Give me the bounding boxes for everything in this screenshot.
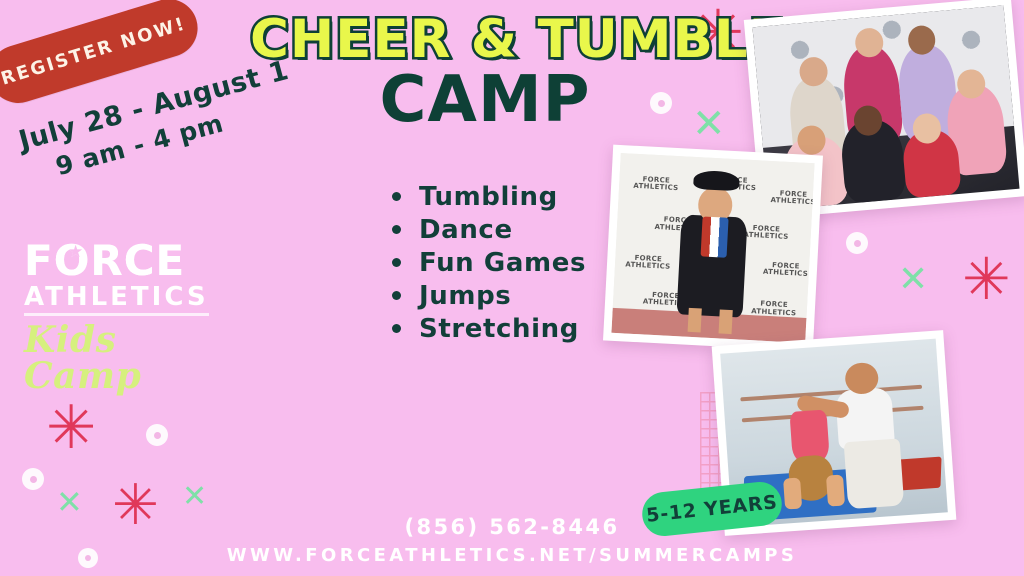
backdrop-logo-text: FORCE ATHLETICS [762,261,809,278]
bullet-icon [392,291,401,300]
website-url[interactable]: WWW.FORCEATHLETICS.NET/SUMMERCAMPS [0,545,1024,566]
headline-block: CHEER & TUMBLE CAMP [250,14,720,132]
activity-label: Fun Games [419,248,586,278]
title-line-2: CAMP [250,68,720,132]
activity-label: Stretching [419,314,579,344]
force-athletics-logo: FORCE ★ ATHLETICS Kids Camp [24,240,239,394]
phone-number[interactable]: (856) 562-8446 [0,515,1024,539]
child-arm [826,474,845,506]
title-line-1: CHEER & TUMBLE [250,14,720,66]
backdrop-logo-text: FORCE ATHLETICS [770,190,815,207]
logo-tagline: Kids Camp [24,322,239,394]
asterisk-decoration: ✳ [46,398,96,458]
bullet-icon [392,324,401,333]
backdrop-logo-text: FORCE ATHLETICS [623,254,674,271]
solo-cheerleader-with-medal-photo: FORCE ATHLETICS FORCE ATHLETICS FORCE AT… [603,145,823,352]
bullet-icon [392,258,401,267]
bullet-icon [392,192,401,201]
star-icon: ★ [68,244,84,261]
activity-label: Tumbling [419,182,558,212]
backdrop-logo-text: FORCE ATHLETICS [741,224,792,241]
logo-word-force: FORCE ★ [24,240,185,282]
list-item: Dance [392,213,586,246]
list-item: Stretching [392,312,586,345]
activity-label: Jumps [419,281,511,311]
circle-decoration [146,424,168,446]
coach-legs [843,439,904,509]
leg-figure [687,308,702,332]
list-item: Tumbling [392,180,586,213]
bullet-icon [392,225,401,234]
activity-label: Dance [419,215,513,245]
flyer-canvas: ✳ ✳ ✳ ✳ ✕ ✕ ✕ ✕ REGISTER NOW! July 28 - … [0,0,1024,576]
x-decoration: ✕ [56,486,83,518]
asterisk-decoration: ✳ [962,250,1011,308]
x-decoration: ✕ [898,262,928,298]
register-now-label: REGISTER NOW! [0,13,189,89]
circle-decoration [22,468,44,490]
leg-figure [718,310,733,334]
photo-image: FORCE ATHLETICS FORCE ATHLETICS FORCE AT… [611,153,814,343]
backdrop-logo-text: FORCE ATHLETICS [631,175,682,192]
child-arm [783,477,802,509]
medal-ribbon [701,217,728,258]
list-item: Jumps [392,279,586,312]
x-decoration: ✕ [182,482,207,512]
circle-decoration [846,232,868,254]
logo-word-athletics: ATHLETICS [24,284,209,316]
activities-list: Tumbling Dance Fun Games Jumps Stretchin… [392,180,586,345]
logo-force-text: FORCE [24,236,185,285]
list-item: Fun Games [392,246,586,279]
